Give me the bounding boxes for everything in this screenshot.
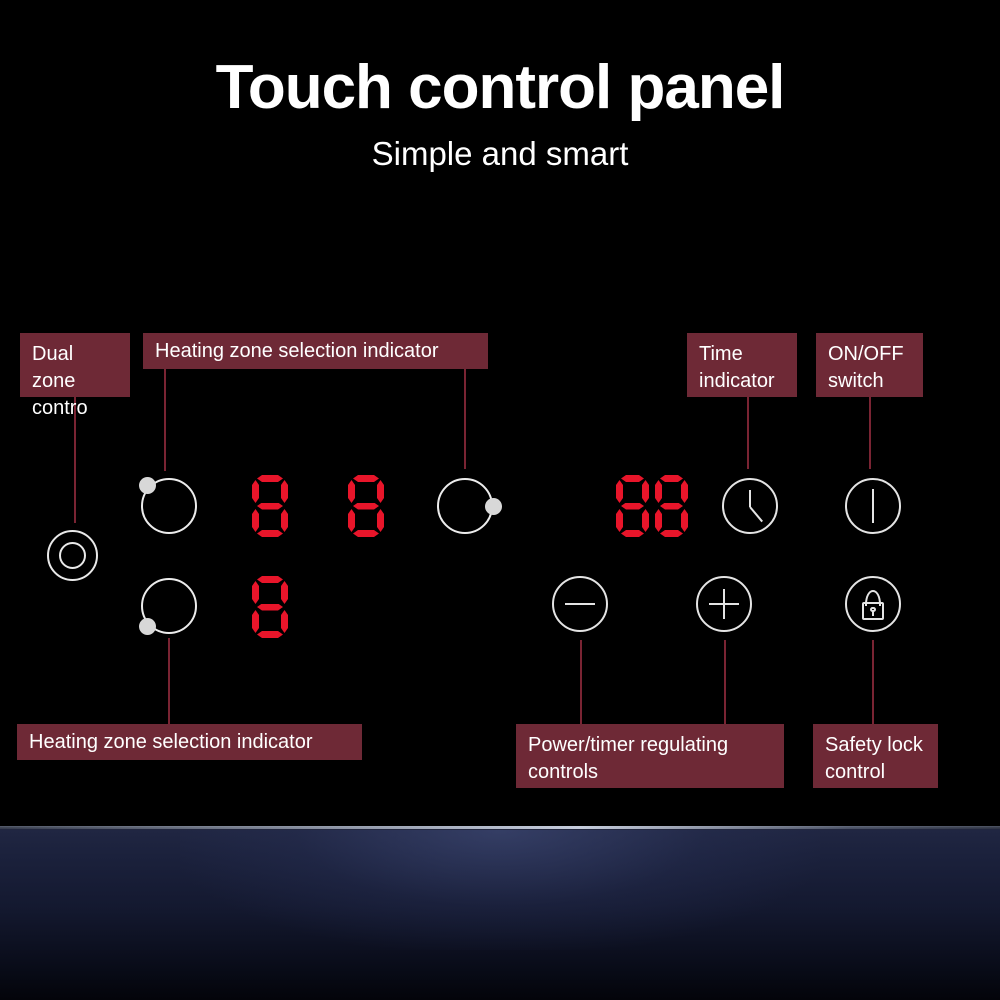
segment-e <box>348 509 355 532</box>
connector-time-indicator <box>747 397 749 469</box>
segment-c <box>642 509 649 532</box>
segment-c <box>281 509 288 532</box>
segment-e <box>252 509 259 532</box>
segment-f <box>252 581 259 604</box>
segment-a <box>257 475 283 482</box>
segment-g <box>660 503 683 510</box>
minus-bar <box>565 603 594 605</box>
callout-time-indicator[interactable]: Time indicator <box>687 333 797 397</box>
plus-bar-vertical <box>723 589 725 618</box>
timer-display-digit-1 <box>616 475 649 537</box>
zone-select-top-left[interactable] <box>141 478 197 534</box>
connector-heating-top-right <box>464 369 466 469</box>
connector-on-off-switch <box>869 397 871 469</box>
segment-d <box>257 530 283 537</box>
callout-safety-lock-control[interactable]: Safety lock control <box>813 724 938 788</box>
segment-g <box>257 503 283 510</box>
connector-heating-bottom <box>168 638 170 724</box>
segment-g <box>257 604 283 611</box>
connector-plus-button <box>724 640 726 724</box>
segment-e <box>616 509 623 532</box>
page-title: Touch control panel <box>0 57 1000 119</box>
segment-d <box>257 631 283 638</box>
segment-e <box>252 610 259 633</box>
callout-on-off-switch[interactable]: ON/OFF switch <box>816 333 923 397</box>
connector-heating-top-left <box>164 369 166 471</box>
segment-c <box>377 509 384 532</box>
segment-c <box>681 509 688 532</box>
connector-minus-button <box>580 640 582 724</box>
clock-button[interactable] <box>722 478 778 534</box>
power-button[interactable] <box>845 478 901 534</box>
segment-e <box>655 509 662 532</box>
segment-a <box>660 475 683 482</box>
segment-a <box>257 576 283 583</box>
zone-indicator-dot <box>139 477 156 494</box>
timer-display-digit-2 <box>655 475 688 537</box>
zone-select-top-right[interactable] <box>437 478 493 534</box>
zone-indicator-dot <box>485 498 502 515</box>
segment-d <box>353 530 379 537</box>
connector-safety-lock <box>872 640 874 724</box>
zone-select-bottom-left[interactable] <box>141 578 197 634</box>
zone-display-3 <box>252 576 288 638</box>
segment-g <box>353 503 379 510</box>
plus-button[interactable] <box>696 576 752 632</box>
dual-zone-control-icon[interactable] <box>47 530 98 581</box>
segment-f <box>616 480 623 503</box>
minus-button[interactable] <box>552 576 608 632</box>
segment-b <box>681 480 688 503</box>
segment-a <box>353 475 379 482</box>
segment-g <box>621 503 644 510</box>
cooktop-surface <box>0 826 1000 1000</box>
segment-b <box>281 581 288 604</box>
segment-d <box>621 530 644 537</box>
callout-heating-zone-indicator-top[interactable]: Heating zone selection indicator <box>143 333 488 369</box>
segment-f <box>348 480 355 503</box>
segment-a <box>621 475 644 482</box>
clock-hand-minute <box>749 490 751 507</box>
callout-heating-zone-indicator-bottom[interactable]: Heating zone selection indicator <box>17 724 362 760</box>
segment-d <box>660 530 683 537</box>
callout-dual-zone-control[interactable]: Dual zone contro <box>20 333 130 397</box>
segment-b <box>377 480 384 503</box>
power-bar <box>872 489 874 524</box>
zone-display-1 <box>252 475 288 537</box>
segment-f <box>655 480 662 503</box>
lock-button[interactable] <box>845 576 901 632</box>
callout-power-timer-controls[interactable]: Power/timer regulating controls <box>516 724 784 788</box>
segment-b <box>642 480 649 503</box>
zone-display-2 <box>348 475 384 537</box>
page-subtitle: Simple and smart <box>0 137 1000 170</box>
segment-b <box>281 480 288 503</box>
padlock-keyhole-stem <box>872 611 874 616</box>
touch-control-panel-infographic: Touch control panel Simple and smart Dua… <box>0 0 1000 1000</box>
segment-f <box>252 480 259 503</box>
segment-c <box>281 610 288 633</box>
zone-indicator-dot <box>139 618 156 635</box>
